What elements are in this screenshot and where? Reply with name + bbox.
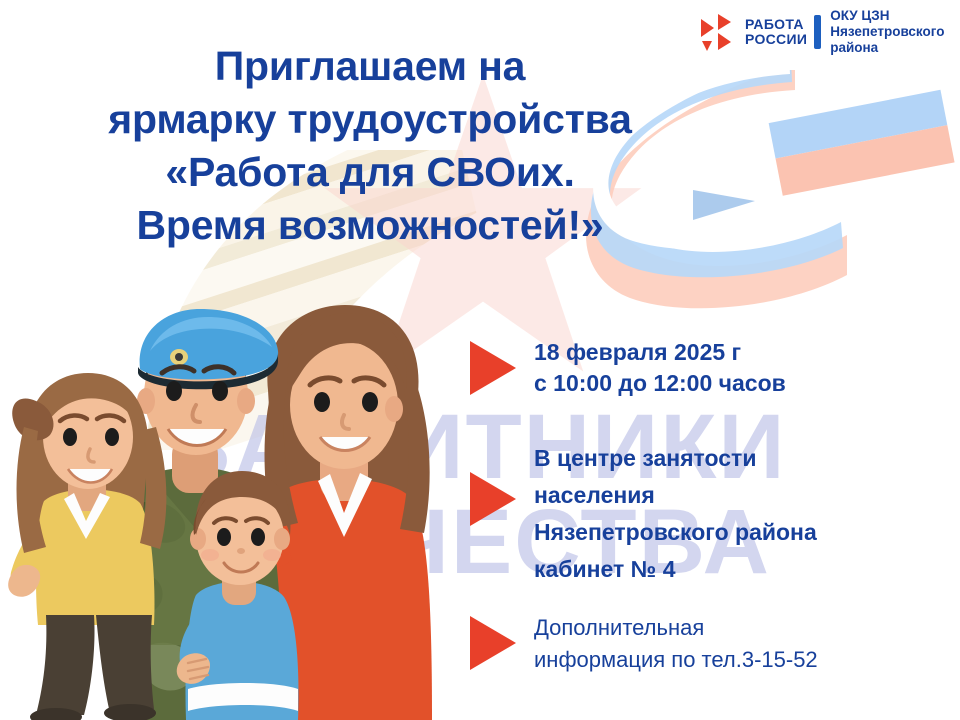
right-triangle-icon [470, 341, 516, 395]
info-block-location-text: В центре занятости населения Нязепетровс… [534, 440, 817, 588]
header: РАБОТА РОССИИ ОКУ ЦЗН Нязепетровского ра… [700, 8, 944, 56]
poster-root: ЗАЩИТНИКИ ОТЕЧЕСТВА РАБОТА РОССИИ ОКУ ЦЗ… [0, 0, 960, 720]
info-block-location: В центре занятости населения Нязепетровс… [470, 440, 817, 588]
military-family-illustration [0, 285, 450, 720]
rabota-rossii-logo: РАБОТА РОССИИ [700, 12, 807, 52]
info-block-date: 18 февраля 2025 г с 10:00 до 12:00 часов [470, 337, 786, 399]
girl-figure [8, 373, 166, 720]
rabota-rossii-triangles-icon [700, 12, 740, 52]
right-triangle-icon [470, 472, 516, 526]
rabota-rossii-wordmark: РАБОТА РОССИИ [745, 17, 807, 47]
info-block-date-text: 18 февраля 2025 г с 10:00 до 12:00 часов [534, 337, 786, 399]
header-divider [814, 15, 821, 49]
info-block-contact: Дополнительная информация по тел.3-15-52 [470, 612, 818, 676]
info-block-contact-text: Дополнительная информация по тел.3-15-52 [534, 612, 818, 676]
right-triangle-icon [470, 616, 516, 670]
organization-name: ОКУ ЦЗН Нязепетровского района [830, 8, 944, 56]
page-title: Приглашаем на ярмарку трудоустройства «Р… [40, 40, 700, 252]
